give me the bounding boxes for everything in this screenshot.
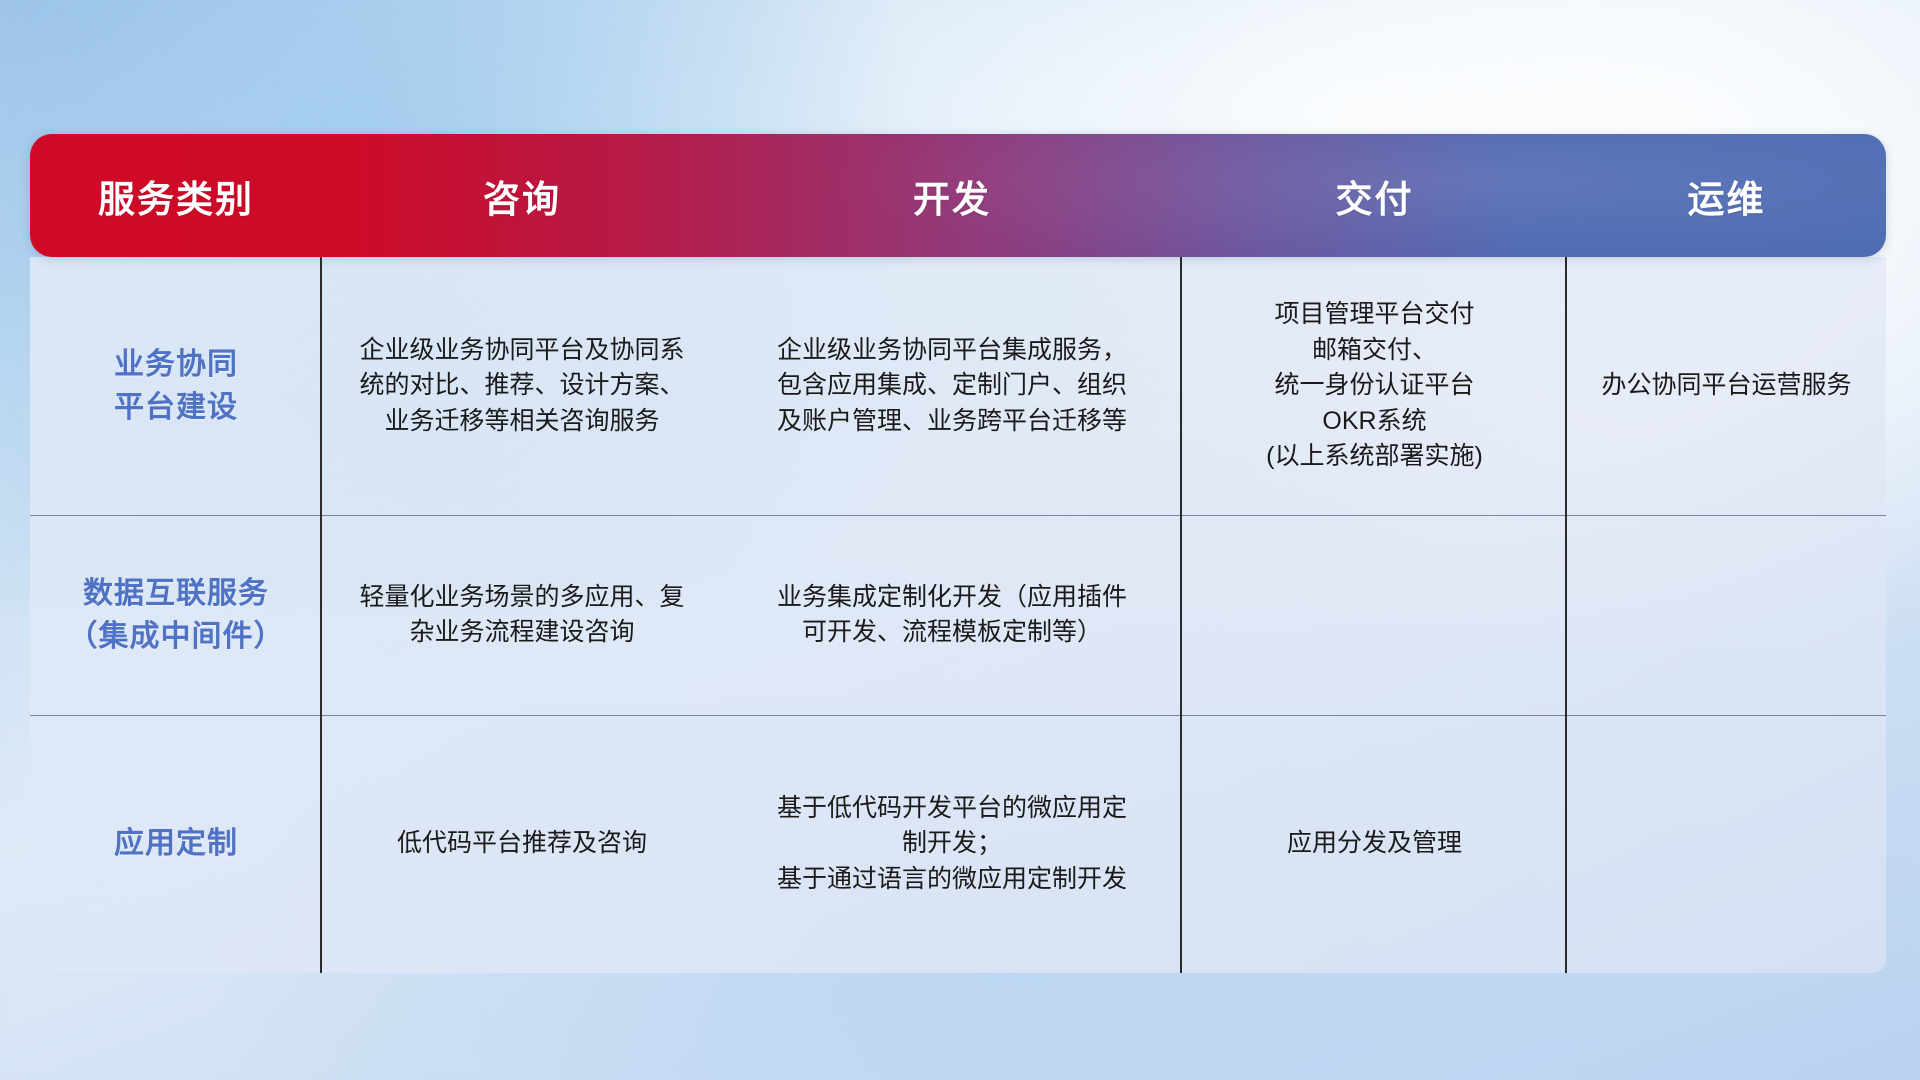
cell-development: 基于低代码开发平台的微应用定 制开发； 基于通过语言的微应用定制开发 <box>722 715 1182 973</box>
cell-development: 业务集成定制化开发（应用插件 可开发、流程模板定制等） <box>722 515 1182 715</box>
column-header-development: 开发 <box>722 134 1182 257</box>
table-row: 应用定制 低代码平台推荐及咨询 基于低代码开发平台的微应用定 制开发； 基于通过… <box>30 715 1886 973</box>
cell-consulting: 企业级业务协同平台及协同系 统的对比、推荐、设计方案、 业务迁移等相关咨询服务 <box>322 257 722 515</box>
table-header-row: 服务类别 咨询 开发 交付 运维 <box>30 134 1886 257</box>
table-row: 数据互联服务 （集成中间件） 轻量化业务场景的多应用、复 杂业务流程建设咨询 业… <box>30 515 1886 715</box>
row-category-label: 数据互联服务 （集成中间件） <box>30 515 322 715</box>
column-header-consulting: 咨询 <box>322 134 722 257</box>
column-header-delivery: 交付 <box>1182 134 1567 257</box>
cell-consulting: 低代码平台推荐及咨询 <box>322 715 722 973</box>
cell-development: 企业级业务协同平台集成服务， 包含应用集成、定制门户、组织 及账户管理、业务跨平… <box>722 257 1182 515</box>
row-category-label: 应用定制 <box>30 715 322 973</box>
column-header-category: 服务类别 <box>30 134 322 257</box>
table-body: 业务协同 平台建设 企业级业务协同平台及协同系 统的对比、推荐、设计方案、 业务… <box>30 257 1886 973</box>
cell-operations <box>1567 515 1886 715</box>
column-header-operations: 运维 <box>1567 134 1886 257</box>
table-row: 业务协同 平台建设 企业级业务协同平台及协同系 统的对比、推荐、设计方案、 业务… <box>30 257 1886 515</box>
cell-consulting: 轻量化业务场景的多应用、复 杂业务流程建设咨询 <box>322 515 722 715</box>
cell-delivery: 应用分发及管理 <box>1182 715 1567 973</box>
cell-delivery <box>1182 515 1567 715</box>
cell-operations: 办公协同平台运营服务 <box>1567 257 1886 515</box>
service-matrix-table: 服务类别 咨询 开发 交付 运维 业务协同 平台建设 企业级业务协同平台及协同系… <box>30 134 1886 973</box>
cell-operations <box>1567 715 1886 973</box>
row-category-label: 业务协同 平台建设 <box>30 257 322 515</box>
cell-delivery: 项目管理平台交付 邮箱交付、 统一身份认证平台 OKR系统 (以上系统部署实施) <box>1182 257 1567 515</box>
